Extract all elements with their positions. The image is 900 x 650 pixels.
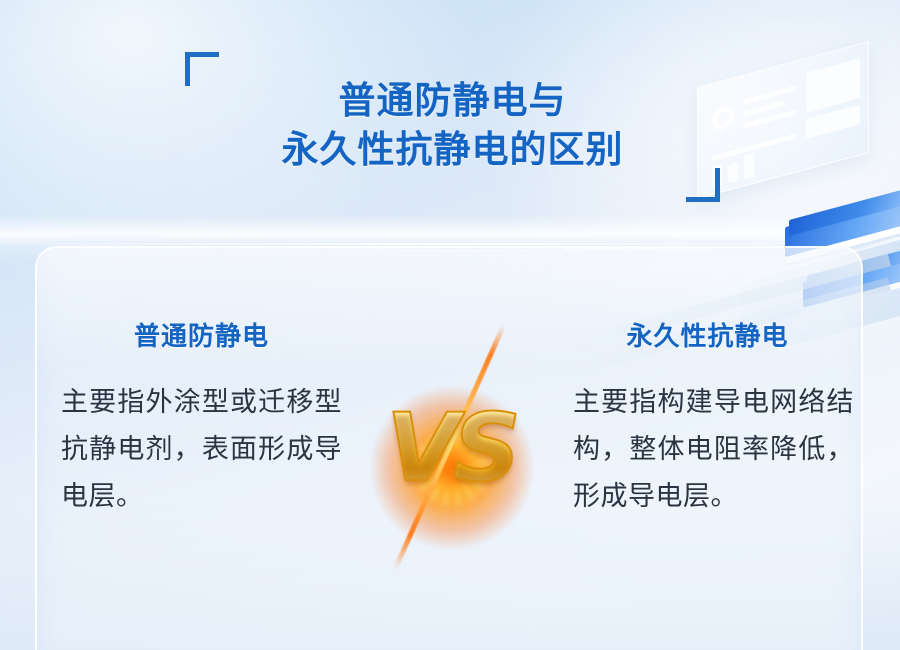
vs-badge: VS <box>358 330 543 570</box>
panel-line-4 <box>712 134 796 162</box>
title-block: 普通防静电与 永久性抗静电的区别 <box>185 52 720 202</box>
vs-label: VS <box>358 402 543 496</box>
bar-chart-bar-3 <box>744 153 754 180</box>
right-column-heading: 永久性抗静电 <box>555 316 860 353</box>
comparison-column-left: 普通防静电 主要指外涂型或迁移型抗静电剂，表面形成导电层。 <box>49 316 354 520</box>
right-column-body: 主要指构建导电网络结构，整体电阻率降低，形成导电层。 <box>555 379 860 520</box>
panel-block-1 <box>806 58 860 112</box>
comparison-column-right: 永久性抗静电 主要指构建导电网络结构，整体电阻率降低，形成导电层。 <box>555 316 860 520</box>
page-title: 普通防静电与 永久性抗静电的区别 <box>185 76 720 174</box>
left-column-heading: 普通防静电 <box>49 316 354 353</box>
left-column-body: 主要指外涂型或迁移型抗静电剂，表面形成导电层。 <box>49 379 354 520</box>
bar-chart-bar-2 <box>728 163 738 184</box>
panel-line-1 <box>744 86 796 105</box>
dashboard-panel-icon <box>697 41 869 199</box>
